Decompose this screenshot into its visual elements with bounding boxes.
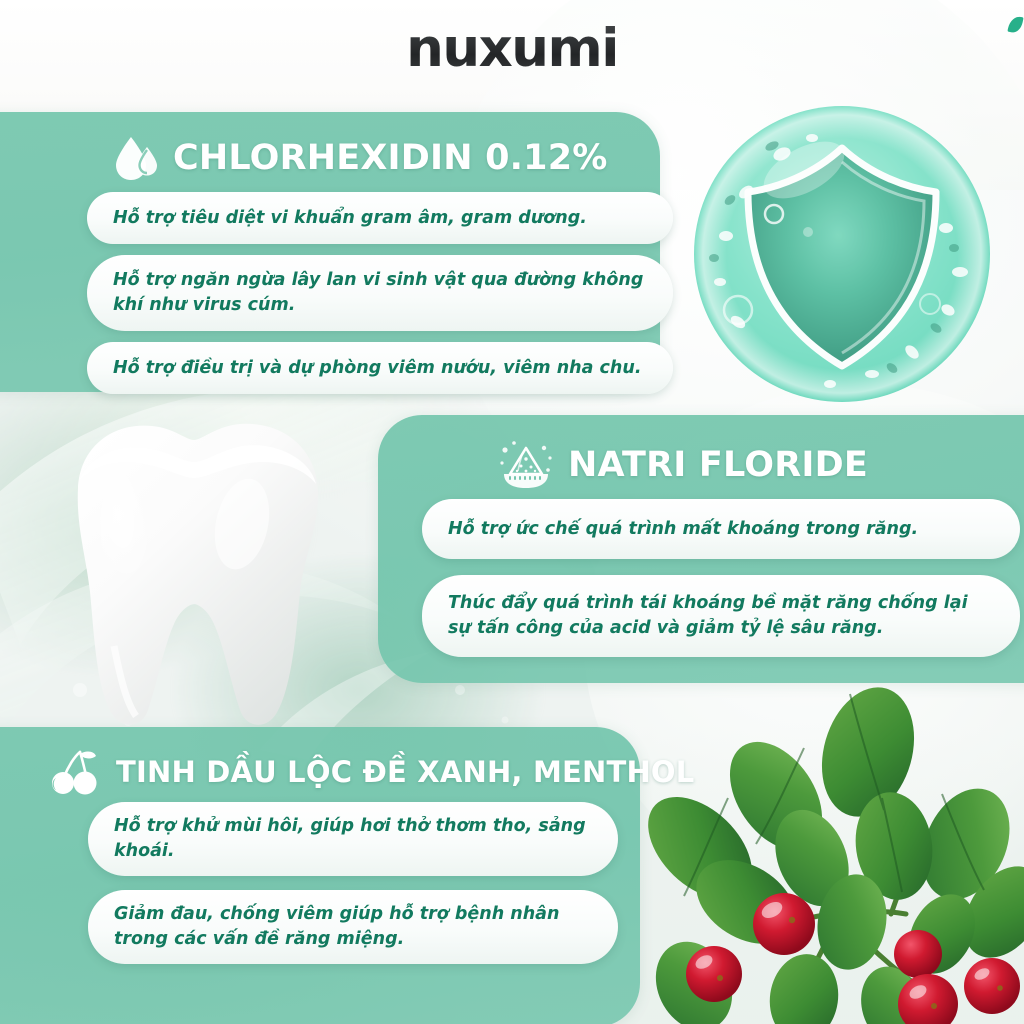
- benefit-pill: Hỗ trợ khử mùi hôi, giúp hơi thở thơm th…: [88, 802, 618, 876]
- water-droplet-icon: [115, 134, 159, 182]
- section-title: CHLORHEXIDIN 0.12%: [173, 138, 608, 178]
- benefit-text: Hỗ trợ ức chế quá trình mất khoáng trong…: [422, 517, 1020, 542]
- benefit-pill: Thúc đẩy quá trình tái khoáng bề mặt răn…: [422, 575, 1020, 657]
- benefit-text: Hỗ trợ tiêu diệt vi khuẩn gram âm, gram …: [87, 206, 673, 231]
- section-heading-menthol: TINH DẦU LỘC ĐỀ XANH, MENTHOL: [50, 747, 694, 797]
- section-panel-natri-floride: NATRI FLORIDE Hỗ trợ ức chế quá trình mấ…: [378, 415, 1024, 683]
- section-title: NATRI FLORIDE: [568, 445, 868, 485]
- benefit-text: Hỗ trợ khử mùi hôi, giúp hơi thở thơm th…: [88, 814, 618, 864]
- section-panel-menthol: TINH DẦU LỘC ĐỀ XANH, MENTHOL Hỗ trợ khử…: [0, 727, 640, 1024]
- section-panel-chlorhexidin: CHLORHEXIDIN 0.12% Hỗ trợ tiêu diệt vi k…: [0, 112, 660, 392]
- leaf-icon: [1007, 15, 1023, 34]
- benefit-pill: Hỗ trợ ngăn ngừa lây lan vi sinh vật qua…: [87, 255, 673, 331]
- poster-canvas: nuxumi: [0, 0, 1024, 1024]
- benefit-pill: Giảm đau, chống viêm giúp hỗ trợ bệnh nh…: [88, 890, 618, 964]
- cherries-icon: [50, 747, 102, 797]
- benefit-pill: Hỗ trợ tiêu diệt vi khuẩn gram âm, gram …: [87, 192, 673, 244]
- benefit-text: Thúc đẩy quá trình tái khoáng bề mặt răn…: [422, 591, 1020, 641]
- shield-bubble-graphic: [684, 96, 1000, 412]
- tooth-graphic: [18, 396, 370, 740]
- benefit-pill: Hỗ trợ ức chế quá trình mất khoáng trong…: [422, 499, 1020, 559]
- benefit-text: Giảm đau, chống viêm giúp hỗ trợ bệnh nh…: [88, 902, 618, 952]
- brand-name: nuxumi: [406, 18, 618, 79]
- benefit-text: Hỗ trợ điều trị và dự phòng viêm nướu, v…: [87, 356, 673, 381]
- section-heading-chlorhexidin: CHLORHEXIDIN 0.12%: [115, 134, 608, 182]
- wintergreen-berry-graphic: [636, 686, 1024, 1024]
- benefit-pill: Hỗ trợ điều trị và dự phòng viêm nướu, v…: [87, 342, 673, 394]
- mineral-bowl-icon: [498, 439, 554, 491]
- brand-logo: nuxumi: [0, 18, 1024, 79]
- section-title: TINH DẦU LỘC ĐỀ XANH, MENTHOL: [116, 755, 694, 789]
- benefit-text: Hỗ trợ ngăn ngừa lây lan vi sinh vật qua…: [87, 268, 673, 318]
- section-heading-natri-floride: NATRI FLORIDE: [498, 439, 868, 491]
